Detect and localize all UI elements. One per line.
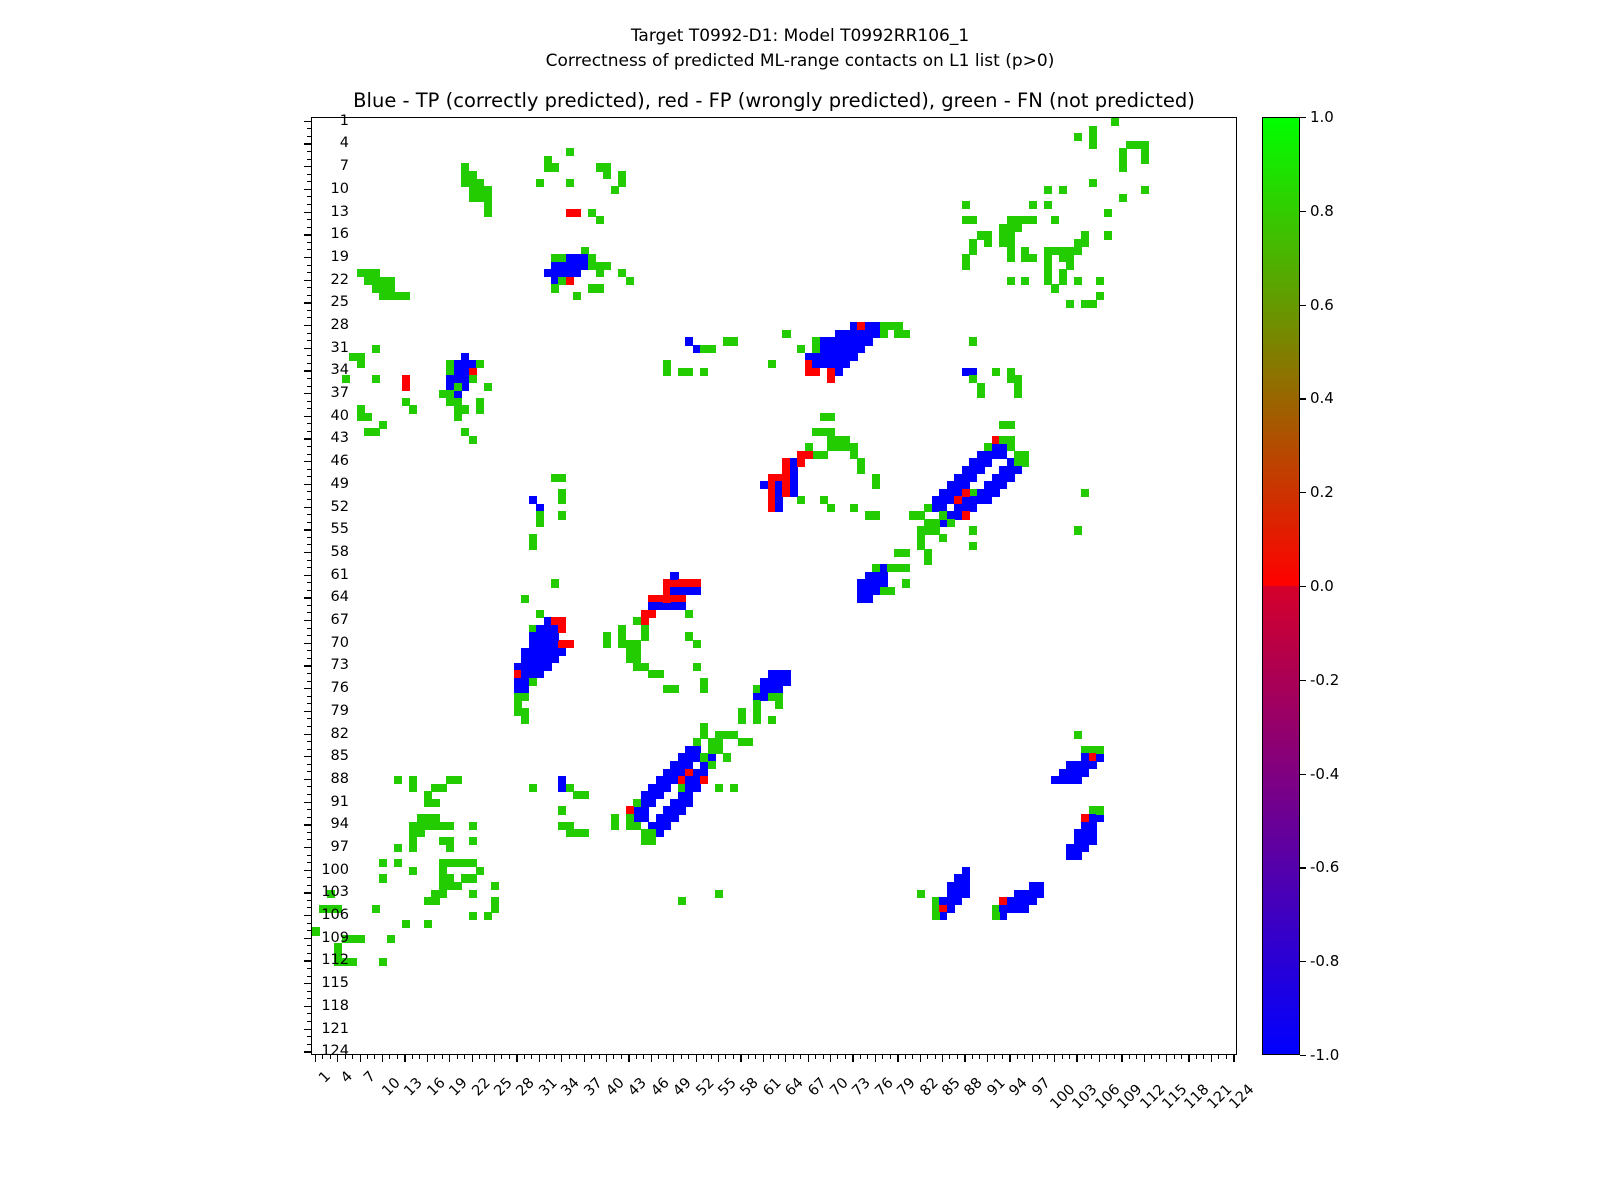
contact-cell-fn: [558, 474, 566, 482]
contact-cell-fn: [1014, 224, 1022, 232]
y-axis-tick: [304, 461, 311, 462]
contact-cell-fn: [1089, 141, 1097, 149]
contact-cell-tp: [999, 451, 1007, 459]
contact-cell-fn: [1074, 133, 1082, 141]
y-axis-tick: [304, 484, 311, 485]
contact-cell-fn: [1051, 284, 1059, 292]
x-axis-tick: [389, 1055, 390, 1059]
y-axis-tick: [307, 340, 311, 341]
contact-cell-tp: [1081, 769, 1089, 777]
contact-cell-fn: [924, 557, 932, 565]
x-axis-tick: [367, 1055, 368, 1059]
contact-cell-fn: [797, 496, 805, 504]
colorbar-tick-label: 0.0: [1310, 577, 1334, 595]
x-axis-tick: [882, 1055, 883, 1059]
contact-cell-fn: [611, 186, 619, 194]
y-axis-tick-label: 85: [331, 748, 349, 764]
contact-cell-tp: [558, 648, 566, 656]
x-axis-tick-label: 97: [1029, 1075, 1053, 1099]
contact-cell-fp: [827, 375, 835, 383]
contact-cell-fn: [626, 822, 634, 830]
x-axis-tick-label: 88: [962, 1075, 986, 1099]
contact-cell-fn: [685, 610, 693, 618]
figure-canvas: Target T0992-D1: Model T0992RR106_1 Corr…: [0, 0, 1600, 1200]
x-axis-tick: [688, 1055, 689, 1059]
y-axis-tick: [304, 325, 311, 326]
contact-cell-fn: [566, 784, 574, 792]
y-axis-tick-label: 76: [331, 680, 349, 696]
y-axis-tick-label: 82: [331, 726, 349, 742]
x-axis-tick: [315, 1055, 316, 1062]
contact-cell-fn: [1059, 186, 1067, 194]
contact-cell-fn: [409, 844, 417, 852]
contact-cell-fn: [715, 890, 723, 898]
x-axis-tick: [830, 1055, 831, 1062]
x-axis-tick-label: 76: [872, 1075, 896, 1099]
contact-cell-fn: [439, 390, 447, 398]
contact-cell-fn: [1081, 239, 1089, 247]
x-axis-tick: [531, 1055, 532, 1059]
contact-cell-tp: [984, 458, 992, 466]
x-axis-tick: [352, 1055, 353, 1059]
contact-cell-fn: [491, 882, 499, 890]
contact-cell-fn: [603, 171, 611, 179]
y-axis-tick: [307, 696, 311, 697]
contact-cell-fn: [603, 262, 611, 270]
contact-cell-tp: [947, 905, 955, 913]
x-axis-tick: [718, 1055, 719, 1062]
contact-cell-tp: [558, 784, 566, 792]
y-axis-tick: [304, 756, 311, 757]
contact-cell-fn: [812, 345, 820, 353]
contact-cell-fn: [372, 905, 380, 913]
contact-cell-fn: [349, 958, 357, 966]
x-axis-tick: [397, 1055, 398, 1059]
contact-cell-fn: [827, 413, 835, 421]
x-axis-tick: [1144, 1055, 1145, 1062]
y-axis-tick: [307, 930, 311, 931]
contact-cells-layer: [312, 118, 1236, 1054]
x-axis-tick: [1166, 1055, 1167, 1062]
y-axis-tick: [304, 597, 311, 598]
y-axis-tick: [307, 998, 311, 999]
contact-cell-fn: [715, 738, 723, 746]
contact-cell-fn: [947, 519, 955, 527]
y-axis-tick: [307, 582, 311, 583]
x-axis-tick: [890, 1055, 891, 1059]
contact-cell-fn: [700, 685, 708, 693]
x-axis-tick: [763, 1055, 764, 1062]
contact-cell-fn: [768, 693, 776, 701]
contact-cell-fp: [797, 458, 805, 466]
y-axis-tick: [307, 1044, 311, 1045]
y-axis-tick: [307, 544, 311, 545]
contact-cell-tp: [1096, 814, 1104, 822]
contact-cell-tp: [857, 345, 865, 353]
contact-cell-fn: [469, 859, 477, 867]
contact-cell-tp: [969, 474, 977, 482]
y-axis-tick: [307, 159, 311, 160]
x-axis-tick: [1017, 1055, 1018, 1059]
contact-cell-tp: [536, 670, 544, 678]
contact-cell-tp: [984, 496, 992, 504]
y-axis-tick: [307, 196, 311, 197]
contact-cell-fn: [678, 897, 686, 905]
x-axis-tick: [584, 1055, 585, 1062]
x-axis-tick: [427, 1055, 428, 1062]
y-axis-tick: [304, 688, 311, 689]
contact-cell-fn: [797, 345, 805, 353]
y-axis-tick: [304, 1051, 311, 1052]
contact-cell-fn: [782, 330, 790, 338]
contact-cell-fn: [880, 330, 888, 338]
y-axis-tick-label: 31: [331, 340, 349, 356]
x-axis-tick: [935, 1055, 936, 1059]
contact-cell-tp: [551, 632, 559, 640]
x-axis-tick-label: 70: [827, 1075, 851, 1099]
colorbar-tick: [1300, 492, 1306, 493]
x-axis-tick: [628, 1055, 629, 1062]
y-axis-tick: [307, 1036, 311, 1037]
contact-cell-fn: [484, 912, 492, 920]
contact-cell-tp: [1021, 905, 1029, 913]
figure-suptitle: Target T0992-D1: Model T0992RR106_1 Corr…: [0, 24, 1600, 73]
contact-cell-fn: [753, 716, 761, 724]
contact-cell-fn: [357, 935, 365, 943]
contact-cell-fn: [446, 822, 454, 830]
contact-cell-fp: [558, 625, 566, 633]
y-axis-tick: [307, 537, 311, 538]
x-axis-tick: [636, 1055, 637, 1059]
contact-cell-fn: [745, 738, 753, 746]
y-axis-tick: [304, 257, 311, 258]
contact-cell-fn: [1104, 209, 1112, 217]
y-axis-tick-label: 103: [321, 884, 349, 900]
contact-map-plot-area[interactable]: [311, 117, 1237, 1055]
x-axis-tick-label: 46: [648, 1075, 672, 1099]
colorbar[interactable]: [1262, 117, 1300, 1055]
y-axis-tick-label: 37: [331, 385, 349, 401]
contact-cell-fn: [461, 405, 469, 413]
y-axis-tick-label: 43: [331, 430, 349, 446]
x-axis-tick: [949, 1055, 950, 1059]
contact-cell-fn: [1014, 390, 1022, 398]
y-axis-tick: [304, 280, 311, 281]
contact-cell-tp: [999, 912, 1007, 920]
y-axis-tick: [304, 983, 311, 984]
contact-cell-fn: [484, 383, 492, 391]
x-axis-tick: [569, 1055, 570, 1059]
x-axis-tick: [1188, 1055, 1189, 1062]
contact-cell-fp: [962, 511, 970, 519]
contact-cell-fp: [812, 368, 820, 376]
contact-cell-fn: [648, 837, 656, 845]
contact-cell-fn: [417, 829, 425, 837]
contact-cell-fn: [603, 640, 611, 648]
colorbar-tick: [1300, 961, 1306, 962]
contact-cell-fn: [939, 511, 947, 519]
x-axis-tick: [920, 1055, 921, 1062]
y-axis-tick: [304, 212, 311, 213]
y-axis-tick: [307, 945, 311, 946]
contact-cell-fn: [439, 784, 447, 792]
y-axis-tick: [307, 227, 311, 228]
contact-cell-fn: [364, 413, 372, 421]
contact-cell-fn: [618, 179, 626, 187]
y-axis-tick-label: 118: [321, 998, 349, 1014]
x-axis-tick: [673, 1055, 674, 1062]
x-axis-tick-label: 13: [402, 1075, 426, 1099]
x-axis-tick: [599, 1055, 600, 1059]
contact-cell-tp: [544, 663, 552, 671]
y-axis-tick: [304, 529, 311, 530]
x-axis-tick: [957, 1055, 958, 1059]
contact-cell-fn: [902, 579, 910, 587]
x-axis-tick-label: 7: [361, 1069, 379, 1087]
y-axis-tick: [307, 295, 311, 296]
y-axis-tick: [307, 786, 311, 787]
contact-cell-fn: [723, 753, 731, 761]
contact-cell-fn: [969, 337, 977, 345]
contact-cell-fn: [917, 511, 925, 519]
x-axis-tick-label: 67: [805, 1075, 829, 1099]
y-axis-tick: [307, 249, 311, 250]
x-axis-tick: [651, 1055, 652, 1062]
contact-cell-fn: [693, 640, 701, 648]
y-axis-tick: [304, 1006, 311, 1007]
x-axis-tick: [1106, 1055, 1107, 1059]
y-axis-tick: [307, 499, 311, 500]
y-axis-tick: [307, 673, 311, 674]
x-axis-tick-label: 55: [715, 1075, 739, 1099]
contact-cell-tp: [969, 504, 977, 512]
colorbar-tick: [1300, 774, 1306, 775]
x-axis-tick: [449, 1055, 450, 1062]
x-axis-tick: [681, 1055, 682, 1059]
x-axis-tick: [524, 1055, 525, 1059]
y-axis-tick: [307, 272, 311, 273]
colorbar-tick-label: 0.8: [1310, 202, 1334, 220]
contact-cell-fn: [820, 451, 828, 459]
y-axis-tick: [307, 612, 311, 613]
y-axis-tick: [307, 174, 311, 175]
contact-cell-fn: [521, 693, 529, 701]
y-axis-tick: [307, 219, 311, 220]
x-axis-tick: [1002, 1055, 1003, 1059]
contact-cell-fn: [454, 413, 462, 421]
contact-cell-fn: [476, 360, 484, 368]
y-axis-tick: [307, 423, 311, 424]
contact-cell-fp: [663, 595, 671, 603]
x-axis-tick: [561, 1055, 562, 1062]
x-axis-tick: [703, 1055, 704, 1059]
contact-cell-fn: [469, 874, 477, 882]
contact-cell-fn: [1044, 201, 1052, 209]
y-axis-tick: [307, 567, 311, 568]
x-axis-tick: [1009, 1055, 1010, 1062]
contact-cell-fn: [700, 368, 708, 376]
y-axis-tick: [307, 703, 311, 704]
y-axis-tick: [304, 847, 311, 848]
contact-cell-fn: [932, 912, 940, 920]
y-axis-tick-label: 100: [321, 862, 349, 878]
contact-cell-fp: [573, 209, 581, 217]
y-axis-tick: [307, 1013, 311, 1014]
colorbar-tick-label: -1.0: [1310, 1046, 1339, 1064]
colorbar-tick-label: 0.4: [1310, 389, 1334, 407]
contact-cell-fn: [1029, 201, 1037, 209]
x-axis-tick: [1054, 1055, 1055, 1062]
contact-cell-fn: [633, 617, 641, 625]
contact-cell-fn: [529, 542, 537, 550]
x-axis-tick: [1114, 1055, 1115, 1059]
contact-cell-tp: [842, 360, 850, 368]
contact-cell-fn: [1074, 526, 1082, 534]
contact-cell-fn: [1007, 421, 1015, 429]
y-axis-tick: [307, 635, 311, 636]
y-axis-tick: [307, 446, 311, 447]
contact-cell-fn: [394, 859, 402, 867]
contact-cell-fn: [529, 784, 537, 792]
colorbar-tick: [1300, 305, 1306, 306]
x-axis-tick: [539, 1055, 540, 1062]
contact-cell-fn: [1104, 231, 1112, 239]
colorbar-tick-label: 0.6: [1310, 296, 1334, 314]
contact-cell-fn: [372, 345, 380, 353]
contact-cell-fn: [387, 284, 395, 292]
contact-cell-fn: [984, 239, 992, 247]
y-axis-tick: [307, 151, 311, 152]
contact-cell-tp: [790, 489, 798, 497]
y-axis-tick: [307, 718, 311, 719]
y-axis-tick: [304, 552, 311, 553]
x-axis-tick-label: 4: [338, 1069, 356, 1087]
x-axis-tick: [1159, 1055, 1160, 1059]
y-axis-tick: [304, 234, 311, 235]
x-axis-tick: [494, 1055, 495, 1062]
y-axis-tick-label: 4: [340, 135, 349, 151]
contact-cell-tp: [1036, 890, 1044, 898]
y-axis-tick-label: 58: [331, 544, 349, 560]
colorbar-tick-label: -0.6: [1310, 858, 1339, 876]
y-axis-tick: [307, 658, 311, 659]
y-axis-tick: [304, 575, 311, 576]
x-axis-tick: [1099, 1055, 1100, 1062]
contact-cell-tp: [648, 799, 656, 807]
contact-cell-fn: [1119, 163, 1127, 171]
contact-cell-tp: [551, 655, 559, 663]
y-axis-tick-label: 46: [331, 453, 349, 469]
contact-cell-tp: [954, 897, 962, 905]
x-axis-tick: [591, 1055, 592, 1059]
contact-cell-tp: [529, 670, 537, 678]
x-axis-tick-label: 25: [491, 1075, 515, 1099]
y-axis-tick-label: 55: [331, 521, 349, 537]
contact-cell-fn: [529, 678, 537, 686]
x-axis-tick: [554, 1055, 555, 1059]
y-axis-tick: [307, 136, 311, 137]
contact-cell-fp: [566, 277, 574, 285]
contact-cell-fn: [1141, 156, 1149, 164]
y-axis-tick-label: 13: [331, 204, 349, 220]
x-axis-tick: [464, 1055, 465, 1059]
contact-cell-tp: [656, 829, 664, 837]
contact-cell-fn: [611, 822, 619, 830]
x-axis-tick: [785, 1055, 786, 1062]
contact-cell-fn: [469, 912, 477, 920]
contact-cell-fn: [558, 496, 566, 504]
x-axis-tick: [748, 1055, 749, 1059]
x-axis-tick: [1233, 1055, 1234, 1062]
colorbar-tick: [1300, 586, 1306, 587]
contact-cell-fn: [768, 360, 776, 368]
x-axis-tick: [987, 1055, 988, 1062]
contact-cell-fp: [700, 776, 708, 784]
x-axis-tick: [546, 1055, 547, 1059]
contact-cell-fn: [753, 708, 761, 716]
y-axis-tick-label: 19: [331, 249, 349, 265]
contact-cell-tp: [992, 489, 1000, 497]
colorbar-tick-label: -0.4: [1310, 765, 1339, 783]
contact-cell-fp: [402, 383, 410, 391]
contact-cell-fn: [1096, 746, 1104, 754]
contact-cell-tp: [1089, 761, 1097, 769]
contact-cell-fn: [872, 481, 880, 489]
y-axis-tick: [307, 560, 311, 561]
y-axis-tick: [304, 393, 311, 394]
contact-cell-tp: [656, 791, 664, 799]
x-axis-tick-label: 124: [1227, 1082, 1258, 1113]
contact-cell-fn: [1066, 262, 1074, 270]
contact-cell-fn: [1007, 254, 1015, 262]
y-axis-tick: [304, 416, 311, 417]
y-axis-tick: [307, 265, 311, 266]
contact-cell-fn: [409, 867, 417, 875]
contact-cell-fn: [693, 663, 701, 671]
x-axis-tick: [1203, 1055, 1204, 1059]
x-axis-tick: [1226, 1055, 1227, 1059]
contact-cell-fn: [514, 708, 522, 716]
x-axis-tick-label: 58: [738, 1075, 762, 1099]
x-axis-tick: [1136, 1055, 1137, 1059]
y-axis-tick: [307, 491, 311, 492]
y-axis-tick: [304, 370, 311, 371]
y-axis-tick: [304, 643, 311, 644]
contact-cell-fn: [924, 526, 932, 534]
contact-cell-tp: [850, 353, 858, 361]
contact-cell-fn: [708, 345, 716, 353]
x-axis-tick: [1129, 1055, 1130, 1059]
y-axis-tick: [304, 802, 311, 803]
y-axis-tick-label: 88: [331, 771, 349, 787]
y-axis-tick: [307, 204, 311, 205]
y-axis-tick: [304, 892, 311, 893]
x-axis-tick: [740, 1055, 741, 1062]
x-axis-tick: [994, 1055, 995, 1059]
y-axis-tick: [307, 862, 311, 863]
contact-cell-fn: [476, 405, 484, 413]
x-axis-tick: [875, 1055, 876, 1062]
contact-cell-fn: [409, 784, 417, 792]
contact-cell-tp: [835, 368, 843, 376]
x-axis-tick: [837, 1055, 838, 1059]
y-axis-tick-label: 22: [331, 272, 349, 288]
contact-cell-fn: [379, 874, 387, 882]
contact-cell-tp: [1007, 474, 1015, 482]
x-axis-tick: [905, 1055, 906, 1059]
x-axis-tick-label: 22: [469, 1075, 493, 1099]
y-axis-tick: [307, 408, 311, 409]
